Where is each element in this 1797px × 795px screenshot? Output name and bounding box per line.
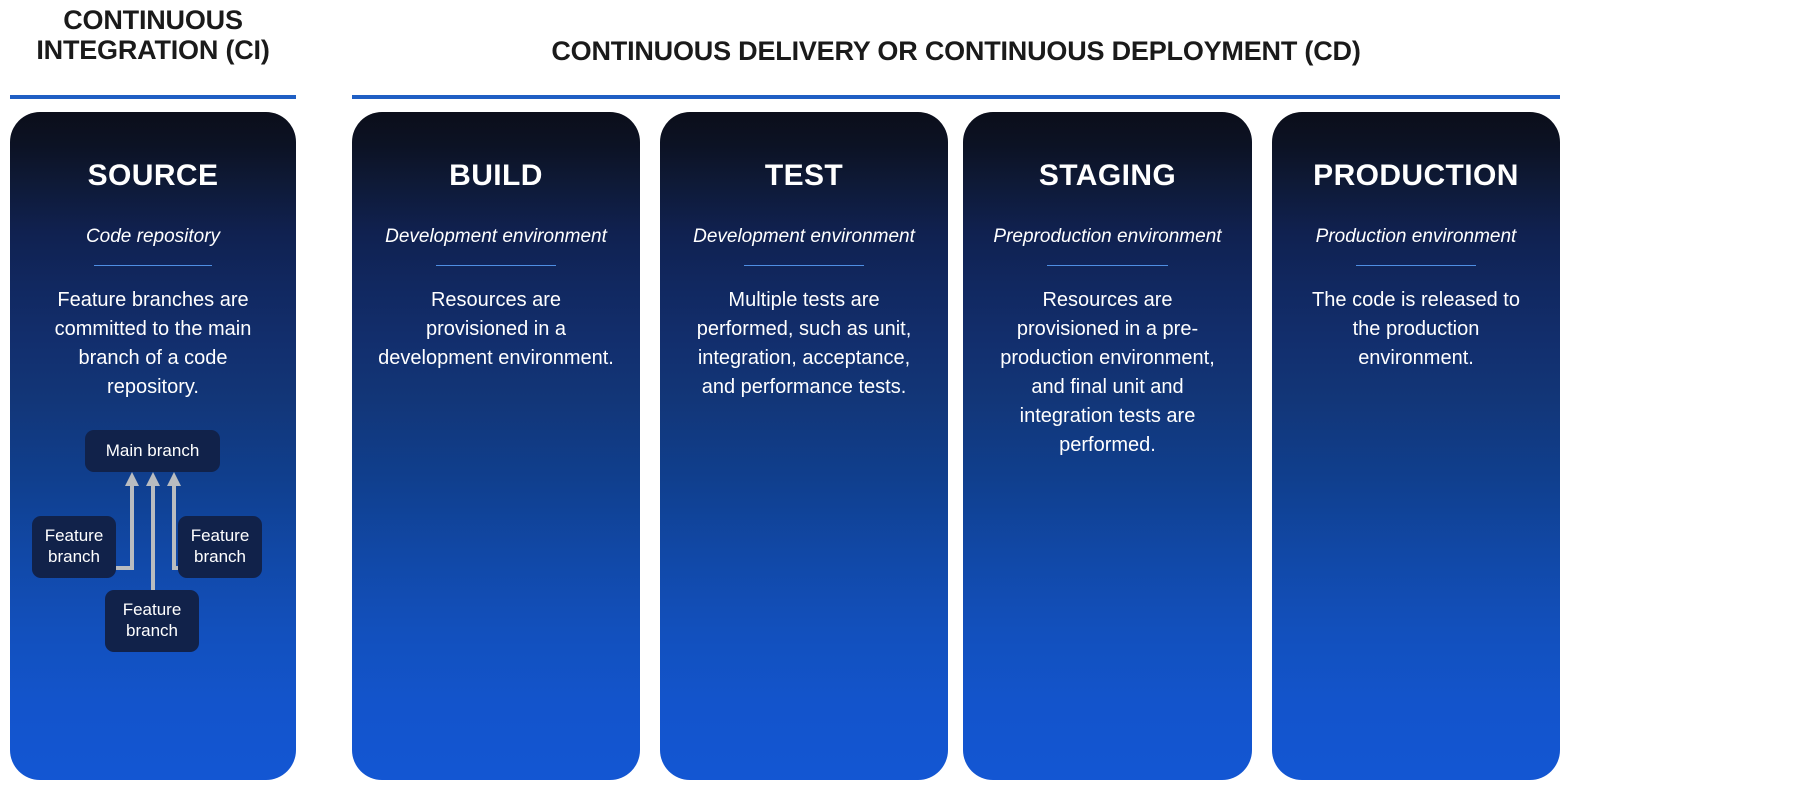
stage-title-staging: STAGING (977, 159, 1238, 193)
stage-divider-staging (1047, 265, 1167, 266)
branch-diagram: Main branch Feature branch Feature branc… (10, 430, 296, 660)
stage-subtitle-source: Code repository (24, 226, 282, 248)
stage-divider-test (744, 265, 864, 266)
branch-box-feature-right: Feature branch (178, 516, 262, 578)
stage-divider-production (1356, 265, 1476, 266)
section-header-ci-line1: CONTINUOUS (63, 5, 243, 35)
section-header-ci-line2: INTEGRATION (CI) (36, 35, 269, 65)
stage-card-build: BUILD Development environment Resources … (352, 112, 640, 780)
stage-subtitle-build: Development environment (366, 226, 626, 248)
stage-card-source: SOURCE Code repository Feature branches … (10, 112, 296, 780)
branch-box-feature-left: Feature branch (32, 516, 116, 578)
pipeline-stage-cards: SOURCE Code repository Feature branches … (0, 112, 1797, 795)
stage-body-build: Resources are provisioned in a developme… (366, 286, 626, 373)
stage-divider-build (436, 265, 556, 266)
section-header-ci-rule (10, 95, 296, 99)
arrow-left-feature-to-main-head (125, 472, 139, 486)
section-header-ci: CONTINUOUS INTEGRATION (CI) (10, 0, 296, 112)
stage-subtitle-production: Production environment (1286, 226, 1546, 248)
section-header-cd-title: CONTINUOUS DELIVERY OR CONTINUOUS DEPLOY… (352, 0, 1560, 66)
stage-card-staging: STAGING Preproduction environment Resour… (963, 112, 1252, 780)
section-header-cd: CONTINUOUS DELIVERY OR CONTINUOUS DEPLOY… (352, 0, 1560, 112)
stage-title-test: TEST (674, 159, 934, 193)
stage-card-test: TEST Development environment Multiple te… (660, 112, 948, 780)
stage-body-staging: Resources are provisioned in a pre-produ… (977, 286, 1238, 460)
arrow-left-feature-to-main (116, 484, 132, 568)
stage-body-test: Multiple tests are performed, such as un… (674, 286, 934, 402)
stage-subtitle-test: Development environment (674, 226, 934, 248)
stage-title-build: BUILD (366, 159, 626, 193)
stage-divider-source (94, 265, 213, 266)
branch-box-feature-bottom: Feature branch (105, 590, 199, 652)
arrow-bottom-feature-to-main-head (146, 472, 160, 486)
section-header-cd-rule (352, 95, 1560, 99)
stage-title-source: SOURCE (24, 159, 282, 193)
stage-subtitle-staging: Preproduction environment (977, 226, 1238, 248)
branch-box-main: Main branch (85, 430, 220, 472)
arrow-right-feature-to-main-head (167, 472, 181, 486)
stage-title-production: PRODUCTION (1286, 159, 1546, 193)
stage-card-production: PRODUCTION Production environment The co… (1272, 112, 1560, 780)
stage-body-production: The code is released to the production e… (1286, 286, 1546, 373)
section-header-ci-title: CONTINUOUS INTEGRATION (CI) (10, 0, 296, 65)
stage-body-source: Feature branches are committed to the ma… (24, 286, 282, 402)
